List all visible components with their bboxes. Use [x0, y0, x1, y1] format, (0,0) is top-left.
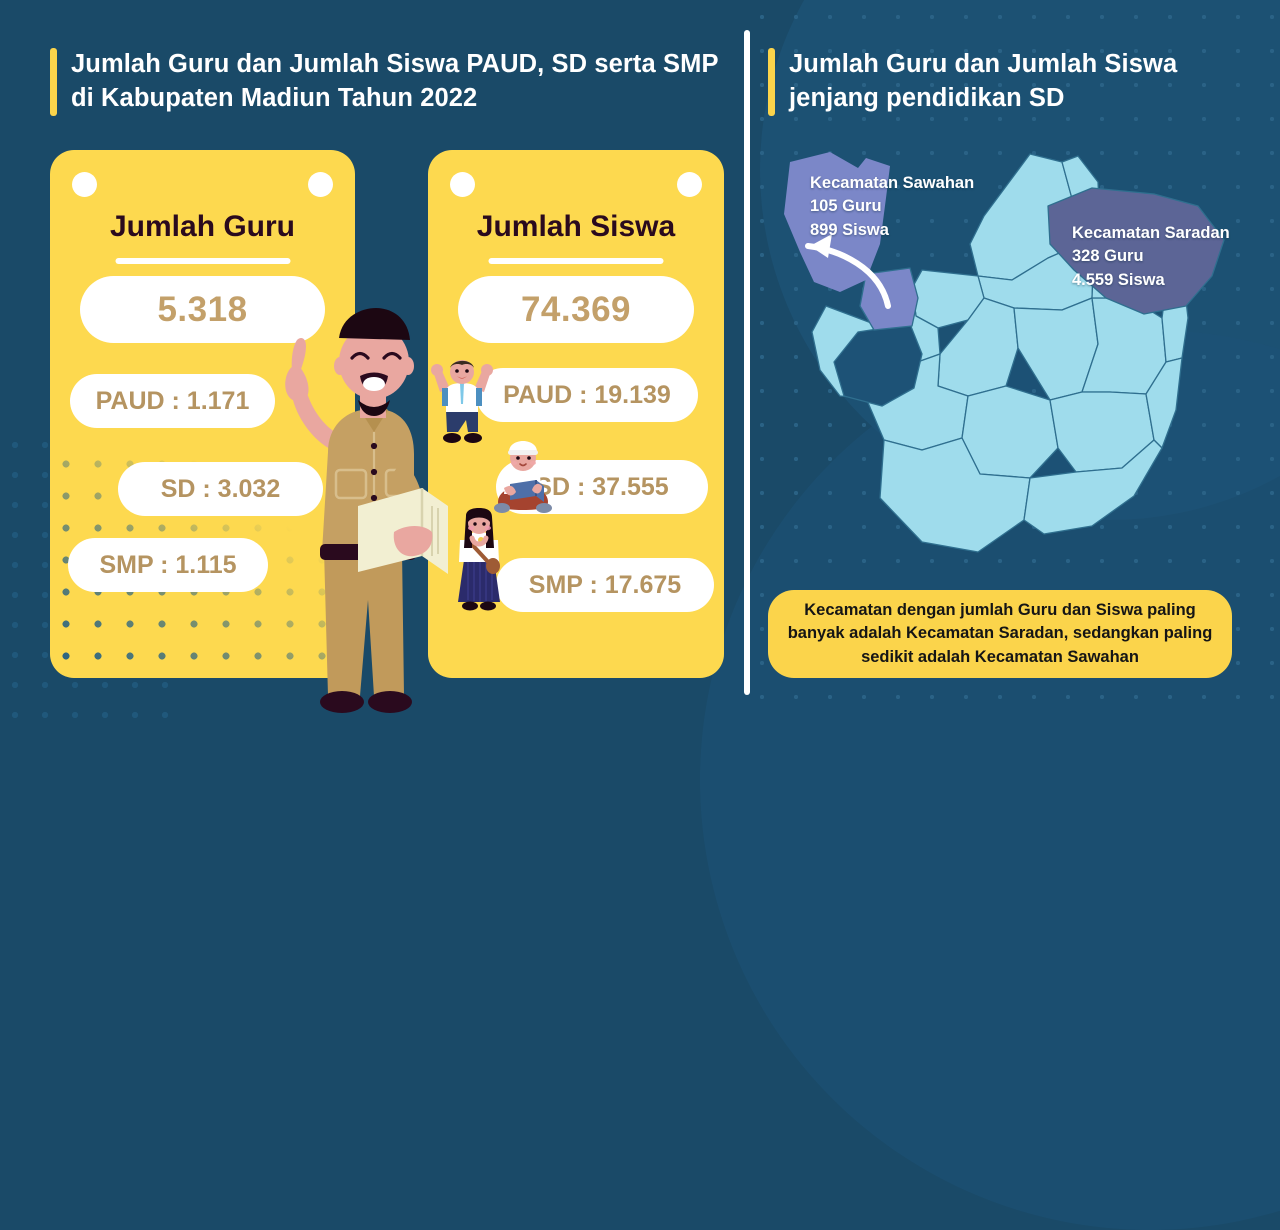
map-label-sawahan: Kecamatan Sawahan 105 Guru 899 Siswa — [810, 172, 974, 242]
panel-divider — [744, 30, 750, 695]
map-label-name: Kecamatan Saradan — [1072, 222, 1230, 245]
punch-hole-right-icon — [308, 172, 333, 197]
map-label-saradan: Kecamatan Saradan 328 Guru 4.559 Siswa — [1072, 222, 1230, 292]
map-label-name: Kecamatan Sawahan — [810, 172, 974, 195]
stat-card-siswa: Jumlah Siswa 74.369 PAUD : 19.139 SD : 3… — [428, 150, 724, 678]
page-title-left: Jumlah Guru dan Jumlah Siswa PAUD, SD se… — [71, 48, 720, 116]
card-total-value: 5.318 — [80, 276, 325, 343]
right-panel-header: Jumlah Guru dan Jumlah Siswa jenjang pen… — [768, 48, 1238, 116]
punch-hole-left-icon — [450, 172, 475, 197]
accent-bar — [768, 48, 775, 116]
stat-card-guru: Jumlah Guru 5.318 PAUD : 1.171 SD : 3.03… — [50, 150, 355, 678]
heading-underline — [115, 258, 290, 264]
map-caption-text: Kecamatan dengan jumlah Guru dan Siswa p… — [782, 599, 1218, 669]
card-item-paud: PAUD : 1.171 — [70, 374, 275, 428]
map-label-students: 4.559 Siswa — [1072, 269, 1230, 292]
map-caption-box: Kecamatan dengan jumlah Guru dan Siswa p… — [768, 590, 1232, 678]
punch-hole-right-icon — [677, 172, 702, 197]
infographic-canvas: Jumlah Guru dan Jumlah Siswa PAUD, SD se… — [0, 0, 1280, 720]
heading-underline — [489, 258, 664, 264]
map-label-teachers: 105 Guru — [810, 195, 974, 218]
punch-hole-left-icon — [72, 172, 97, 197]
card-heading: Jumlah Siswa — [428, 210, 724, 244]
accent-bar — [50, 48, 57, 116]
card-item-smp: SMP : 17.675 — [496, 558, 714, 612]
card-heading: Jumlah Guru — [50, 210, 355, 244]
card-item-smp: SMP : 1.115 — [68, 538, 268, 592]
district-area — [962, 386, 1058, 478]
card-item-paud: PAUD : 19.139 — [476, 368, 698, 422]
card-item-sd: SD : 3.032 — [118, 462, 323, 516]
page-title-right: Jumlah Guru dan Jumlah Siswa jenjang pen… — [789, 48, 1238, 116]
card-total-value: 74.369 — [458, 276, 694, 343]
card-item-sd: SD : 37.555 — [496, 460, 708, 514]
left-panel-header: Jumlah Guru dan Jumlah Siswa PAUD, SD se… — [50, 48, 720, 116]
map-label-students: 899 Siswa — [810, 219, 974, 242]
map-label-teachers: 328 Guru — [1072, 245, 1230, 268]
